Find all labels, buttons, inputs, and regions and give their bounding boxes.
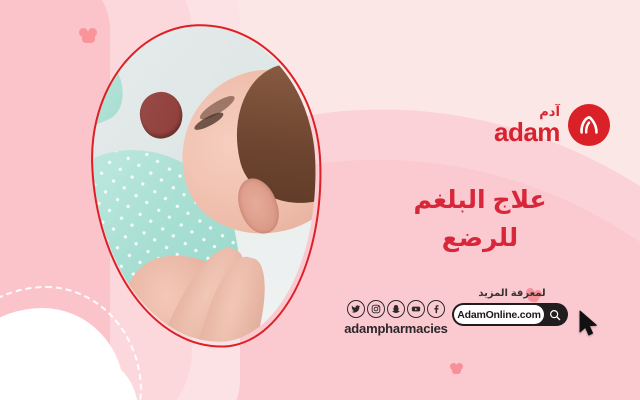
- social-block: adampharmacies: [334, 300, 458, 336]
- cta-block: لمعرفة المزيد AdamOnline.com: [452, 288, 572, 326]
- website-url-field[interactable]: AdamOnline.com: [454, 305, 544, 324]
- headline-line-1: علاج البلغم: [340, 182, 620, 220]
- social-handle: adampharmacies: [334, 321, 458, 336]
- adam-arch-logomark-icon: [568, 104, 610, 146]
- instagram-icon[interactable]: [367, 300, 385, 318]
- cta-label: لمعرفة المزيد: [452, 288, 572, 299]
- headline-line-2: للرضع: [340, 220, 620, 258]
- page-title: علاج البلغم للرضع: [340, 182, 620, 257]
- brand-name-english: adam: [494, 119, 560, 145]
- search-icon[interactable]: [544, 305, 566, 324]
- social-icon-row: [334, 300, 458, 318]
- website-search-pill[interactable]: AdamOnline.com: [452, 303, 568, 326]
- mouse-cursor-arrow-icon: [578, 310, 600, 343]
- adam-pharmacies-banner: آدم adam علاج البلغم للرضع: [0, 0, 640, 400]
- brand-logo[interactable]: آدم adam: [494, 104, 610, 146]
- youtube-icon[interactable]: [407, 300, 425, 318]
- heart-icon-bottom-small: [452, 366, 461, 374]
- twitter-icon[interactable]: [347, 300, 365, 318]
- snapchat-icon[interactable]: [387, 300, 405, 318]
- facebook-icon[interactable]: [427, 300, 445, 318]
- crying-infant-photo: [89, 22, 322, 346]
